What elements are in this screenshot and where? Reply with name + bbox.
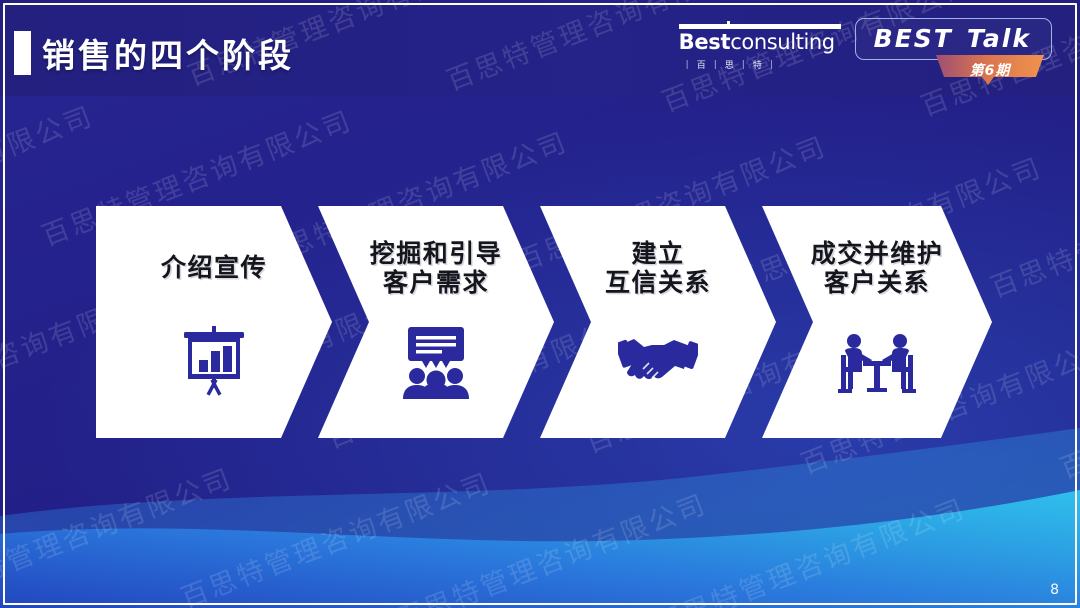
logo-divider: | — [686, 60, 690, 70]
episode-ribbon-shape — [936, 55, 1044, 85]
logo-divider: | — [742, 60, 746, 70]
slide-canvas: 百思特管理咨询有限公司 百思特管理咨询有限公司 百思特管理咨询有限公司 百思特管… — [0, 0, 1080, 608]
title-accent-bar — [14, 31, 31, 75]
sales-stage-process: 介绍宣传 — [96, 206, 992, 438]
best-talk-text: BESTTalk — [874, 26, 1031, 51]
process-stage-3[interactable]: 建立 互信关系 — [540, 206, 776, 438]
best-talk-brand: BEST — [874, 24, 953, 53]
logo-consulting-text: consulting — [730, 32, 835, 53]
best-talk-word: Talk — [967, 24, 1031, 53]
process-stage-4[interactable]: 成交并维护 客户关系 — [762, 206, 992, 438]
chevron-shape — [540, 206, 776, 438]
best-talk-frame: BESTTalk — [855, 18, 1052, 60]
page-number: 8 — [1050, 582, 1060, 598]
logo-cn-char-3: 特 — [753, 58, 763, 71]
chevron-shape — [96, 206, 332, 438]
logo-topline-decoration — [679, 24, 841, 29]
process-stage-2[interactable]: 挖掘和引导 客户需求 — [318, 206, 554, 438]
logo-chinese-name: | 百 | 思 | 特 | — [679, 58, 841, 71]
chevron-shape — [318, 206, 554, 438]
process-stage-1[interactable]: 介绍宣传 — [96, 206, 332, 438]
page-title: 销售的四个阶段 — [42, 29, 294, 77]
best-talk-badge: BESTTalk 第6期 — [855, 18, 1052, 60]
logo-cluster: Best consulting | 百 | 思 | 特 | BESTTalk — [679, 18, 1052, 71]
chevron-shape — [762, 206, 992, 438]
logo-divider: | — [714, 60, 718, 70]
logo-cn-char-2: 思 — [725, 58, 735, 71]
logo-best-text: Best — [679, 32, 731, 53]
logo-wordmark: Best consulting — [679, 32, 841, 53]
logo-divider: | — [770, 60, 774, 70]
best-consulting-logo: Best consulting | 百 | 思 | 特 | — [679, 18, 841, 71]
slide-header: 销售的四个阶段 Best consulting | 百 | 思 | 特 | — [0, 0, 1080, 96]
logo-cn-char-1: 百 — [697, 58, 707, 71]
